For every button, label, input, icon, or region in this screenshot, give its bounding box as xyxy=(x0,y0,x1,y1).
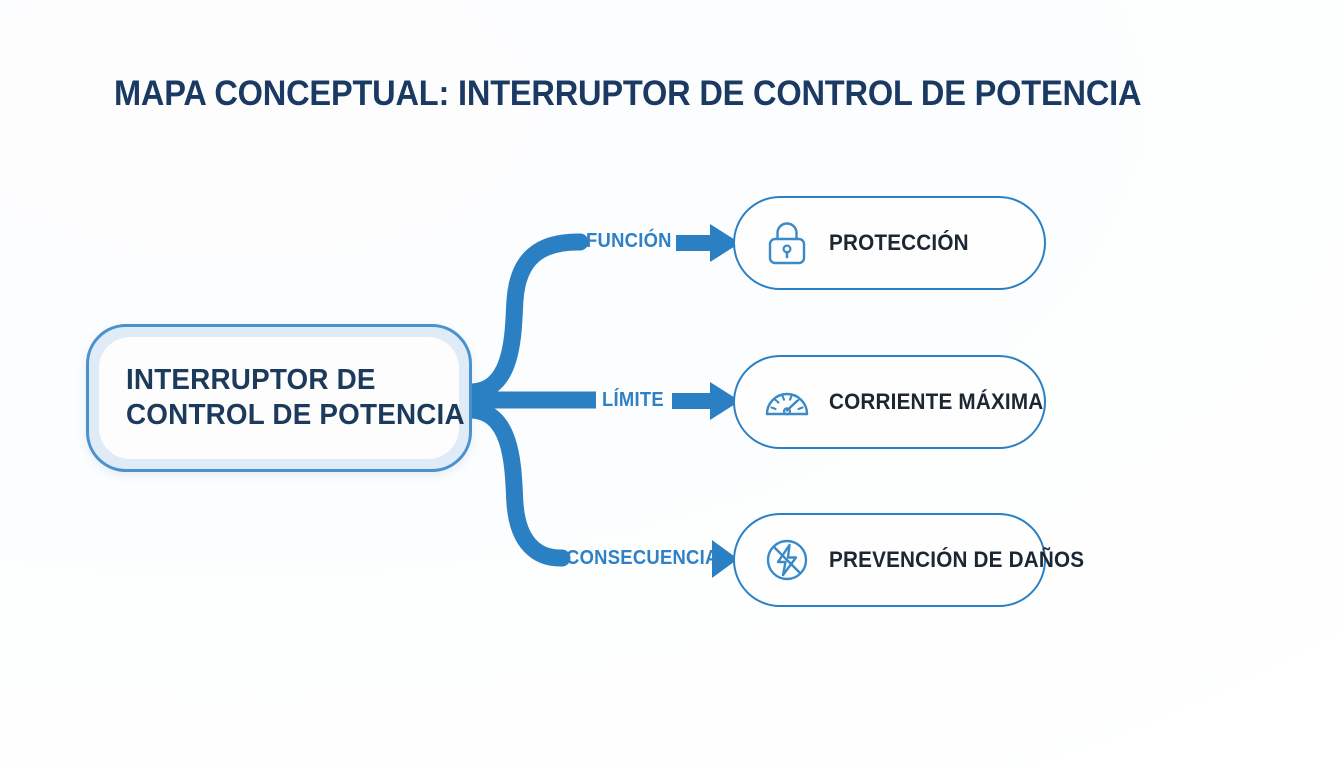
leaf-node-proteccion[interactable]: PROTECCIÓN xyxy=(733,196,1046,290)
leaf-label-corriente-maxima: CORRIENTE MÁXIMA xyxy=(829,390,1043,414)
connector-label-consecuencia: CONSECUENCIA xyxy=(566,547,719,569)
lock-icon xyxy=(761,217,813,269)
central-node[interactable]: INTERRUPTOR DE CONTROL DE POTENCIA xyxy=(86,324,472,472)
central-node-line-1: INTERRUPTOR DE xyxy=(126,363,446,398)
page-title: MAPA CONCEPTUAL: INTERRUPTOR DE CONTROL … xyxy=(114,72,1141,116)
connector-curve-consecuencia xyxy=(470,410,562,558)
concept-map-canvas: MAPA CONCEPTUAL: INTERRUPTOR DE CONTROL … xyxy=(0,0,1344,768)
no-lightning-icon xyxy=(761,534,813,586)
leaf-node-corriente-maxima[interactable]: CORRIENTE MÁXIMA xyxy=(733,355,1046,449)
leaf-label-proteccion: PROTECCIÓN xyxy=(829,231,969,255)
leaf-node-prevencion-danos[interactable]: PREVENCIÓN DE DAÑOS xyxy=(733,513,1046,607)
connector-label-limite: LÍMITE xyxy=(602,389,664,411)
leaf-label-prevencion-danos: PREVENCIÓN DE DAÑOS xyxy=(829,548,1084,572)
connector-curve-funcion xyxy=(470,242,580,392)
connector-label-funcion: FUNCIÓN xyxy=(586,230,672,252)
central-node-inner: INTERRUPTOR DE CONTROL DE POTENCIA xyxy=(99,337,459,459)
central-node-line-2: CONTROL DE POTENCIA xyxy=(126,398,446,433)
gauge-icon xyxy=(761,376,813,428)
